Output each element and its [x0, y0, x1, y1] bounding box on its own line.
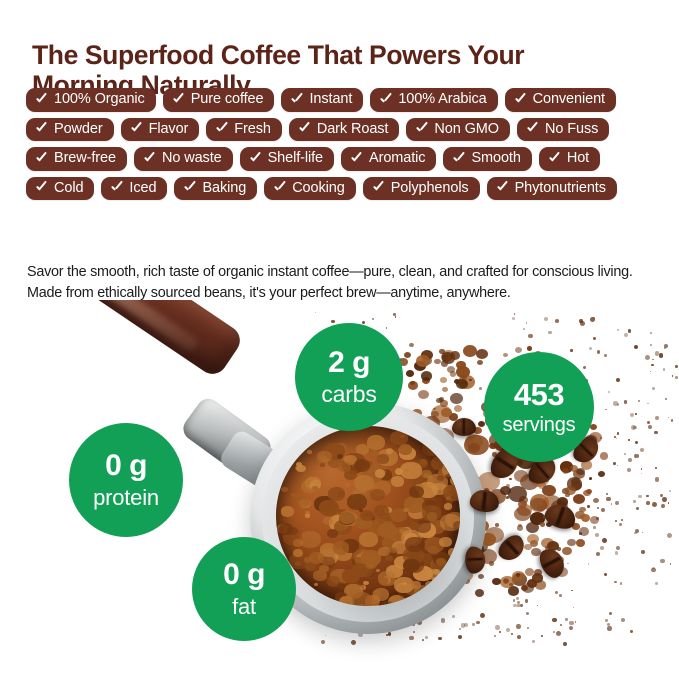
badge-value: 2 g	[328, 348, 370, 378]
check-icon	[372, 181, 385, 194]
feature-tag-label: Pure coffee	[191, 92, 264, 107]
nutrition-badge-servings: 453 servings	[484, 352, 594, 462]
feature-tag-label: No Fuss	[545, 122, 598, 137]
check-icon	[35, 152, 48, 165]
check-icon	[35, 181, 48, 194]
check-icon	[143, 152, 156, 165]
feature-tag[interactable]: Smooth	[443, 147, 531, 171]
ground-coffee	[276, 426, 460, 606]
feature-tag[interactable]: Fresh	[206, 118, 282, 142]
check-icon	[110, 181, 123, 194]
feature-tag[interactable]: 100% Organic	[26, 88, 156, 112]
check-icon	[183, 181, 196, 194]
feature-tag[interactable]: Phytonutrients	[487, 177, 617, 201]
feature-tag[interactable]: Hot	[539, 147, 600, 171]
feature-tag[interactable]: Cooking	[264, 177, 356, 201]
feature-tag[interactable]: Instant	[281, 88, 363, 112]
check-icon	[298, 122, 311, 135]
feature-tag-label: Cooking	[292, 181, 345, 196]
check-icon	[496, 181, 509, 194]
check-icon	[273, 181, 286, 194]
feature-tag-label: Iced	[129, 181, 156, 196]
feature-tag[interactable]: Convenient	[505, 88, 616, 112]
tag-row-1: 100% Organic Pure coffee Instant 100% Ar…	[26, 88, 666, 112]
nutrition-badge-protein: 0 g protein	[69, 423, 183, 537]
badge-label: fat	[232, 596, 256, 618]
feature-tag-label: 100% Arabica	[398, 92, 486, 107]
badge-label: protein	[93, 487, 159, 509]
check-icon	[35, 93, 48, 106]
check-icon	[514, 93, 527, 106]
feature-tag[interactable]: Powder	[26, 118, 114, 142]
feature-tag[interactable]: Polyphenols	[363, 177, 480, 201]
feature-tag[interactable]: 100% Arabica	[370, 88, 497, 112]
feature-tag-label: Hot	[567, 151, 589, 166]
badge-label: servings	[503, 415, 576, 435]
check-icon	[415, 122, 428, 135]
feature-tag-list: 100% Organic Pure coffee Instant 100% Ar…	[26, 88, 666, 206]
feature-tag-label: Brew-free	[54, 151, 116, 166]
feature-tag[interactable]: Pure coffee	[163, 88, 275, 112]
badge-value: 0 g	[223, 560, 265, 590]
feature-tag-label: Cold	[54, 181, 83, 196]
feature-tag[interactable]: Dark Roast	[289, 118, 400, 142]
feature-tag-label: Aromatic	[369, 151, 425, 166]
check-icon	[548, 152, 561, 165]
check-icon	[35, 122, 48, 135]
feature-tag-label: Powder	[54, 122, 103, 137]
feature-tag[interactable]: Non GMO	[406, 118, 510, 142]
feature-tag-label: Smooth	[471, 151, 520, 166]
feature-tag[interactable]: Flavor	[121, 118, 200, 142]
feature-tag[interactable]: No Fuss	[517, 118, 609, 142]
badge-value: 453	[514, 379, 564, 410]
check-icon	[452, 152, 465, 165]
nutrition-badge-fat: 0 g fat	[192, 537, 296, 641]
feature-tag-label: Non GMO	[434, 122, 499, 137]
feature-tag-label: Phytonutrients	[515, 181, 606, 196]
check-icon	[290, 93, 303, 106]
feature-tag[interactable]: Iced	[101, 177, 167, 201]
badge-label: carbs	[321, 383, 376, 406]
feature-tag-label: Shelf-life	[268, 151, 323, 166]
product-description: Savor the smooth, rich taste of organic …	[27, 262, 641, 303]
check-icon	[172, 93, 185, 106]
tag-row-3: Brew-free No waste Shelf-life Aromatic S…	[26, 147, 666, 171]
check-icon	[130, 122, 143, 135]
feature-tag-label: Dark Roast	[317, 122, 389, 137]
check-icon	[379, 93, 392, 106]
check-icon	[526, 122, 539, 135]
product-infographic: The Superfood Coffee That Powers Your Mo…	[0, 0, 679, 679]
feature-tag-label: 100% Organic	[54, 92, 145, 107]
feature-tag-label: Fresh	[234, 122, 271, 137]
check-icon	[249, 152, 262, 165]
feature-tag[interactable]: Aromatic	[341, 147, 436, 171]
tag-row-2: Powder Flavor Fresh Dark Roast Non GMO N…	[26, 118, 666, 142]
feature-tag-label: Instant	[309, 92, 352, 107]
feature-tag-label: Flavor	[149, 122, 189, 137]
feature-tag-label: Polyphenols	[391, 181, 469, 196]
feature-tag-label: Baking	[202, 181, 246, 196]
feature-tag[interactable]: Baking	[174, 177, 257, 201]
feature-tag[interactable]: No waste	[134, 147, 233, 171]
feature-tag[interactable]: Shelf-life	[240, 147, 334, 171]
feature-tag-label: No waste	[162, 151, 222, 166]
feature-tag[interactable]: Brew-free	[26, 147, 127, 171]
tag-row-4: Cold Iced Baking Cooking Polyphenols Phy…	[26, 177, 666, 201]
check-icon	[350, 152, 363, 165]
feature-tag-label: Convenient	[533, 92, 605, 107]
badge-value: 0 g	[105, 451, 147, 481]
check-icon	[215, 122, 228, 135]
nutrition-badge-carbs: 2 g carbs	[295, 323, 403, 431]
feature-tag[interactable]: Cold	[26, 177, 94, 201]
